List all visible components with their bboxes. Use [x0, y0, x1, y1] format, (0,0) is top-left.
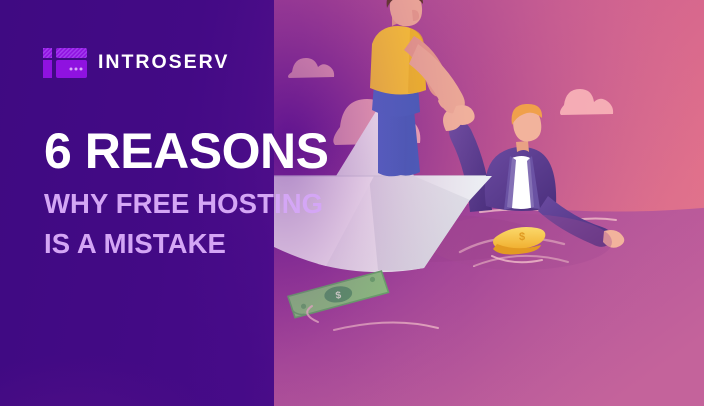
logo-wordmark: INTROSERV [98, 53, 229, 73]
gold-coin-symbol: $ [519, 231, 525, 243]
illustration: $ [274, 0, 704, 406]
subtitle-line-1: WHY FREE HOSTING [44, 190, 328, 218]
introserv-logo[interactable]: INTROSERV [43, 48, 229, 78]
server-rack-icon [43, 48, 87, 78]
headline-block: 6 REASONS WHY FREE HOSTING IS A MISTAKE [44, 126, 328, 257]
introserv-promo-banner: $ [0, 0, 704, 406]
subtitle-line-2: IS A MISTAKE [44, 230, 328, 258]
page-title: 6 REASONS [44, 126, 328, 176]
